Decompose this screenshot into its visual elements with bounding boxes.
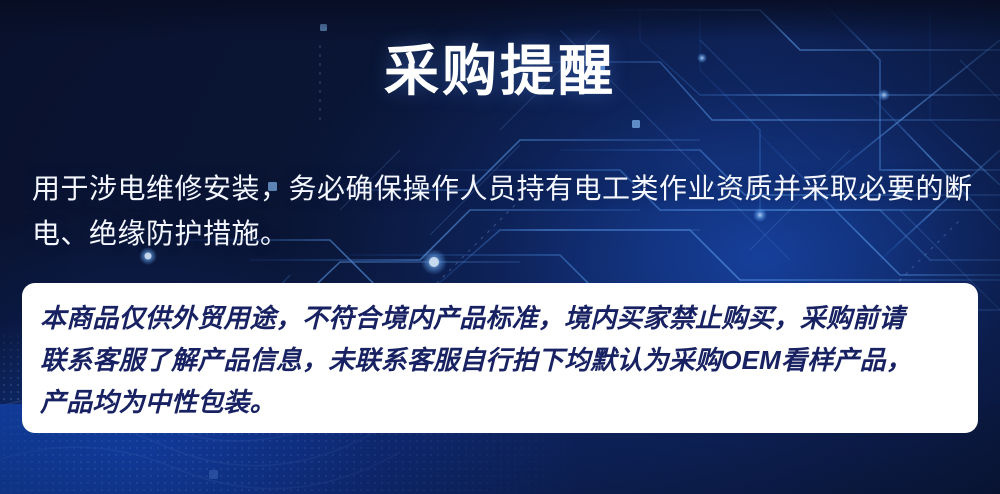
trade-notice-line-3: 产品均为中性包装。 [40, 381, 960, 423]
safety-notice-text: 用于涉电维修安装，务必确保操作人员持有电工类作业资质并采取必要的断电、绝缘防护措… [32, 166, 976, 256]
trade-notice-line-1: 本商品仅供外贸用途，不符合境内产品标准，境内买家禁止购买，采购前请 [40, 297, 960, 339]
trade-notice-box: 本商品仅供外贸用途，不符合境内产品标准，境内买家禁止购买，采购前请 联系客服了解… [22, 283, 978, 433]
trade-notice-line-2: 联系客服了解产品信息，未联系客服自行拍下均默认为采购OEM看样产品， [40, 339, 960, 381]
banner-content: 采购提醒 用于涉电维修安装，务必确保操作人员持有电工类作业资质并采取必要的断电、… [0, 0, 1000, 494]
page-title: 采购提醒 [0, 44, 1000, 99]
purchase-reminder-banner: 采购提醒 用于涉电维修安装，务必确保操作人员持有电工类作业资质并采取必要的断电、… [0, 0, 1000, 494]
